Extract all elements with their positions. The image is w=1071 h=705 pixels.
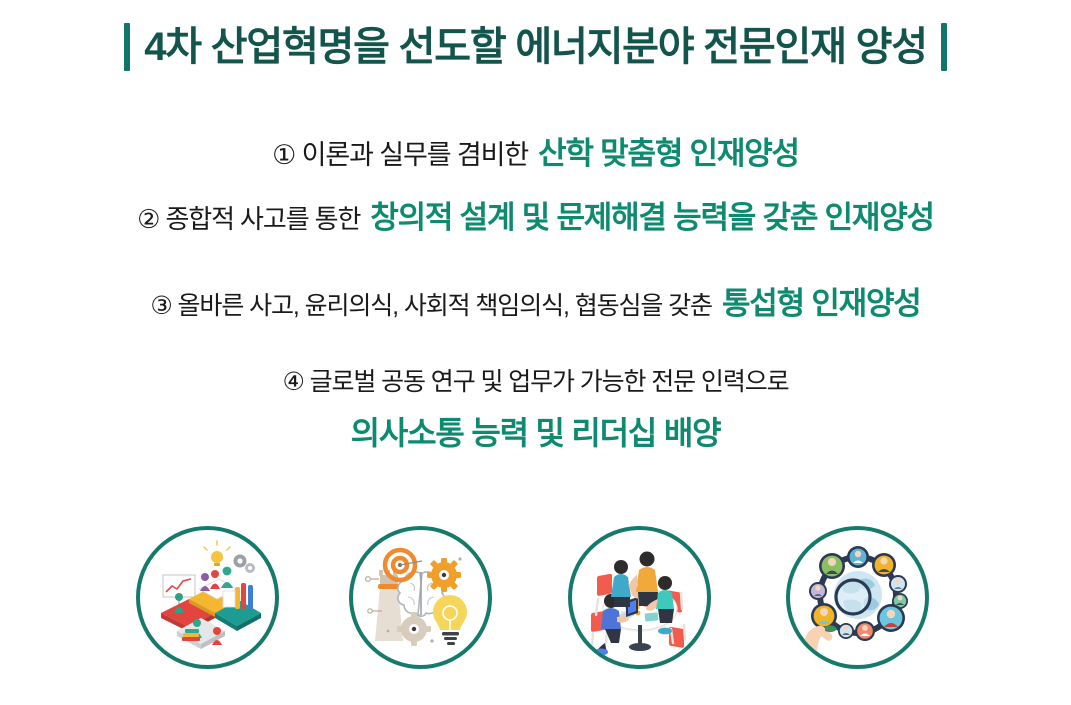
bullet-2-plain-text: ② 종합적 사고를 통한 (137, 199, 360, 236)
bullet-2-accent-text: 창의적 설계 및 문제해결 능력을 갖춘 인재양성 (370, 192, 934, 237)
team-meeting-icon (568, 526, 711, 669)
icon-row (0, 526, 1071, 676)
creative-brain-gears-icon (349, 526, 492, 669)
title-left-bar-icon (124, 23, 130, 71)
bullet-list: ① 이론과 실무를 겸비한 산학 맞춤형 인재양성 ② 종합적 사고를 통한 창… (0, 128, 1071, 468)
industry-academia-collaboration-icon (136, 526, 279, 669)
bullet-1-accent-text: 산학 맞춤형 인재양성 (538, 128, 799, 173)
bullet-3-accent-text: 통섭형 인재양성 (722, 278, 921, 323)
bullet-item-3: ③ 올바른 사고, 윤리의식, 사회적 책임의식, 협동심을 갖춘 통섭형 인재… (0, 278, 1071, 362)
title-text: 4차 산업혁명을 선도할 에너지분야 전문인재 양성 (144, 25, 927, 69)
bullet-item-4-second-line: 의사소통 능력 및 리더십 배양 (0, 408, 1071, 468)
page-title: 4차 산업혁명을 선도할 에너지분야 전문인재 양성 (0, 12, 1071, 82)
bullet-4-plain-text: ④ 글로벌 공동 연구 및 업무가 가능한 전문 인력으로 (282, 362, 788, 398)
bullet-3-plain-text: ③ 올바른 사고, 윤리의식, 사회적 책임의식, 협동심을 갖춘 (150, 286, 712, 322)
bullet-item-4: ④ 글로벌 공동 연구 및 업무가 가능한 전문 인력으로 (0, 362, 1071, 408)
title-right-bar-icon (941, 23, 947, 71)
bullet-1-plain-text: ① 이론과 실무를 겸비한 (272, 133, 528, 172)
slide-root: 4차 산업혁명을 선도할 에너지분야 전문인재 양성 ① 이론과 실무를 겸비한… (0, 0, 1071, 705)
bullet-item-2: ② 종합적 사고를 통한 창의적 설계 및 문제해결 능력을 갖춘 인재양성 (0, 192, 1071, 278)
bullet-item-1: ① 이론과 실무를 겸비한 산학 맞춤형 인재양성 (0, 128, 1071, 192)
bullet-4-accent-text: 의사소통 능력 및 리더십 배양 (351, 408, 721, 454)
global-network-people-icon (786, 526, 929, 669)
